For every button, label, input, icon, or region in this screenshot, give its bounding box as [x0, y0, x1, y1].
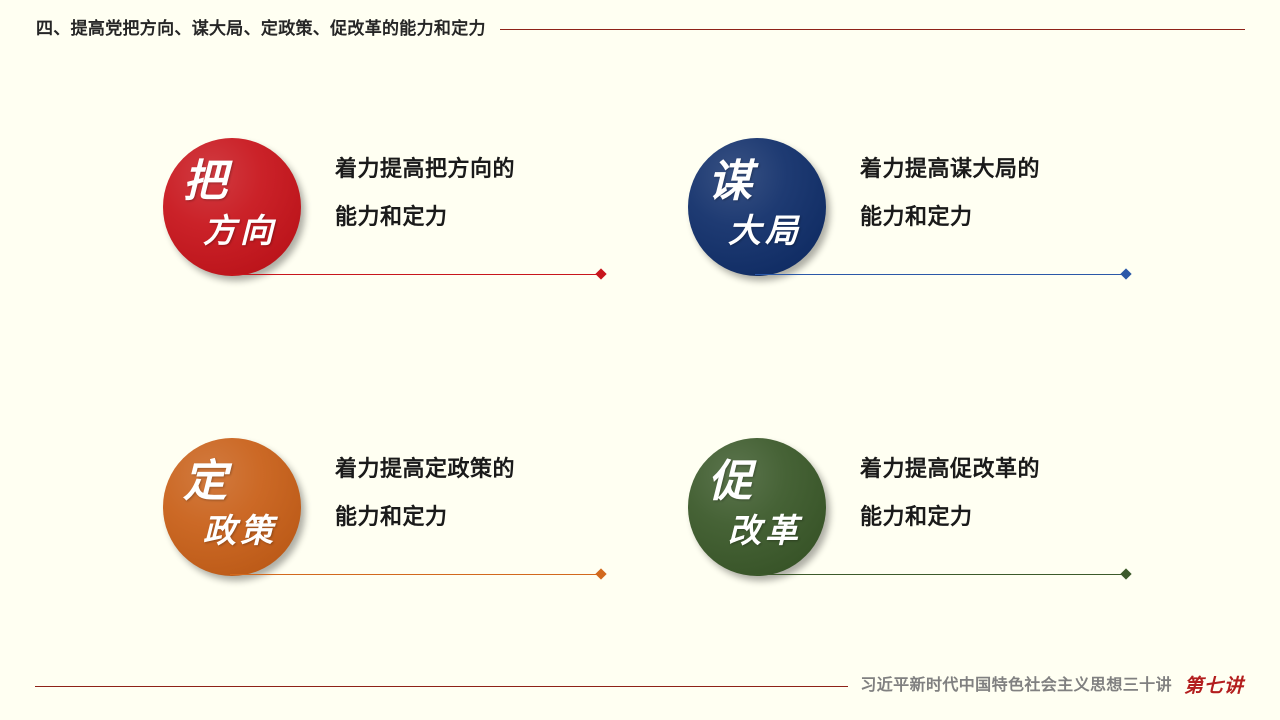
item-ding-zhengce[interactable]: 定 政策 着力提高定政策的 能力和定力: [155, 430, 675, 630]
badge-sub-label: 政策: [203, 514, 277, 547]
badge-wrap: 促 改革: [688, 438, 826, 576]
item-underline: [230, 270, 605, 279]
items-grid: 把 方向 着力提高把方向的 能力和定力 谋 大局 着力提高谋大局的 能力和定力: [0, 0, 1280, 720]
item-ba-fangxiang[interactable]: 把 方向 着力提高把方向的 能力和定力: [155, 130, 675, 330]
badge-wrap: 定 政策: [163, 438, 301, 576]
footer-lecture-badge: 第七讲: [1184, 677, 1244, 696]
badge-sub-label: 改革: [728, 514, 802, 547]
diamond-marker-icon: [595, 568, 606, 579]
underline-bar: [230, 574, 598, 575]
badge-wrap: 谋 大局: [688, 138, 826, 276]
diamond-marker-icon: [1120, 268, 1131, 279]
item-text-line-1: 着力提高把方向的: [335, 158, 665, 180]
badge-sub-label: 方向: [203, 214, 277, 247]
item-underline: [755, 270, 1130, 279]
item-text: 着力提高定政策的 能力和定力: [335, 458, 665, 528]
badge-main-label: 促: [708, 460, 753, 504]
badge-main-label: 把: [183, 160, 228, 204]
slide-canvas: 四、提高党把方向、谋大局、定政策、促改革的能力和定力 把 方向 着力提高把方向的…: [0, 0, 1280, 720]
item-text-line-2: 能力和定力: [335, 206, 665, 228]
item-mou-daju[interactable]: 谋 大局 着力提高谋大局的 能力和定力: [680, 130, 1200, 330]
item-text: 着力提高谋大局的 能力和定力: [860, 158, 1190, 228]
item-text-line-2: 能力和定力: [860, 206, 1190, 228]
item-text: 着力提高把方向的 能力和定力: [335, 158, 665, 228]
slide-footer: 习近平新时代中国特色社会主义思想三十讲 第七讲: [0, 669, 1280, 703]
item-cu-gaige[interactable]: 促 改革 着力提高促改革的 能力和定力: [680, 430, 1200, 630]
footer-series-title: 习近平新时代中国特色社会主义思想三十讲: [860, 678, 1172, 694]
footer-divider: [35, 686, 848, 687]
badge-wrap: 把 方向: [163, 138, 301, 276]
diamond-marker-icon: [595, 268, 606, 279]
item-underline: [230, 570, 605, 579]
item-text-line-1: 着力提高定政策的: [335, 458, 665, 480]
item-text: 着力提高促改革的 能力和定力: [860, 458, 1190, 528]
badge-main-label: 定: [183, 460, 228, 504]
diamond-marker-icon: [1120, 568, 1131, 579]
item-text-line-2: 能力和定力: [335, 506, 665, 528]
badge-sub-label: 大局: [728, 214, 802, 247]
underline-bar: [755, 274, 1123, 275]
item-text-line-1: 着力提高促改革的: [860, 458, 1190, 480]
underline-bar: [230, 274, 598, 275]
underline-bar: [755, 574, 1123, 575]
item-underline: [755, 570, 1130, 579]
item-text-line-2: 能力和定力: [860, 506, 1190, 528]
item-text-line-1: 着力提高谋大局的: [860, 158, 1190, 180]
badge-main-label: 谋: [708, 160, 753, 204]
